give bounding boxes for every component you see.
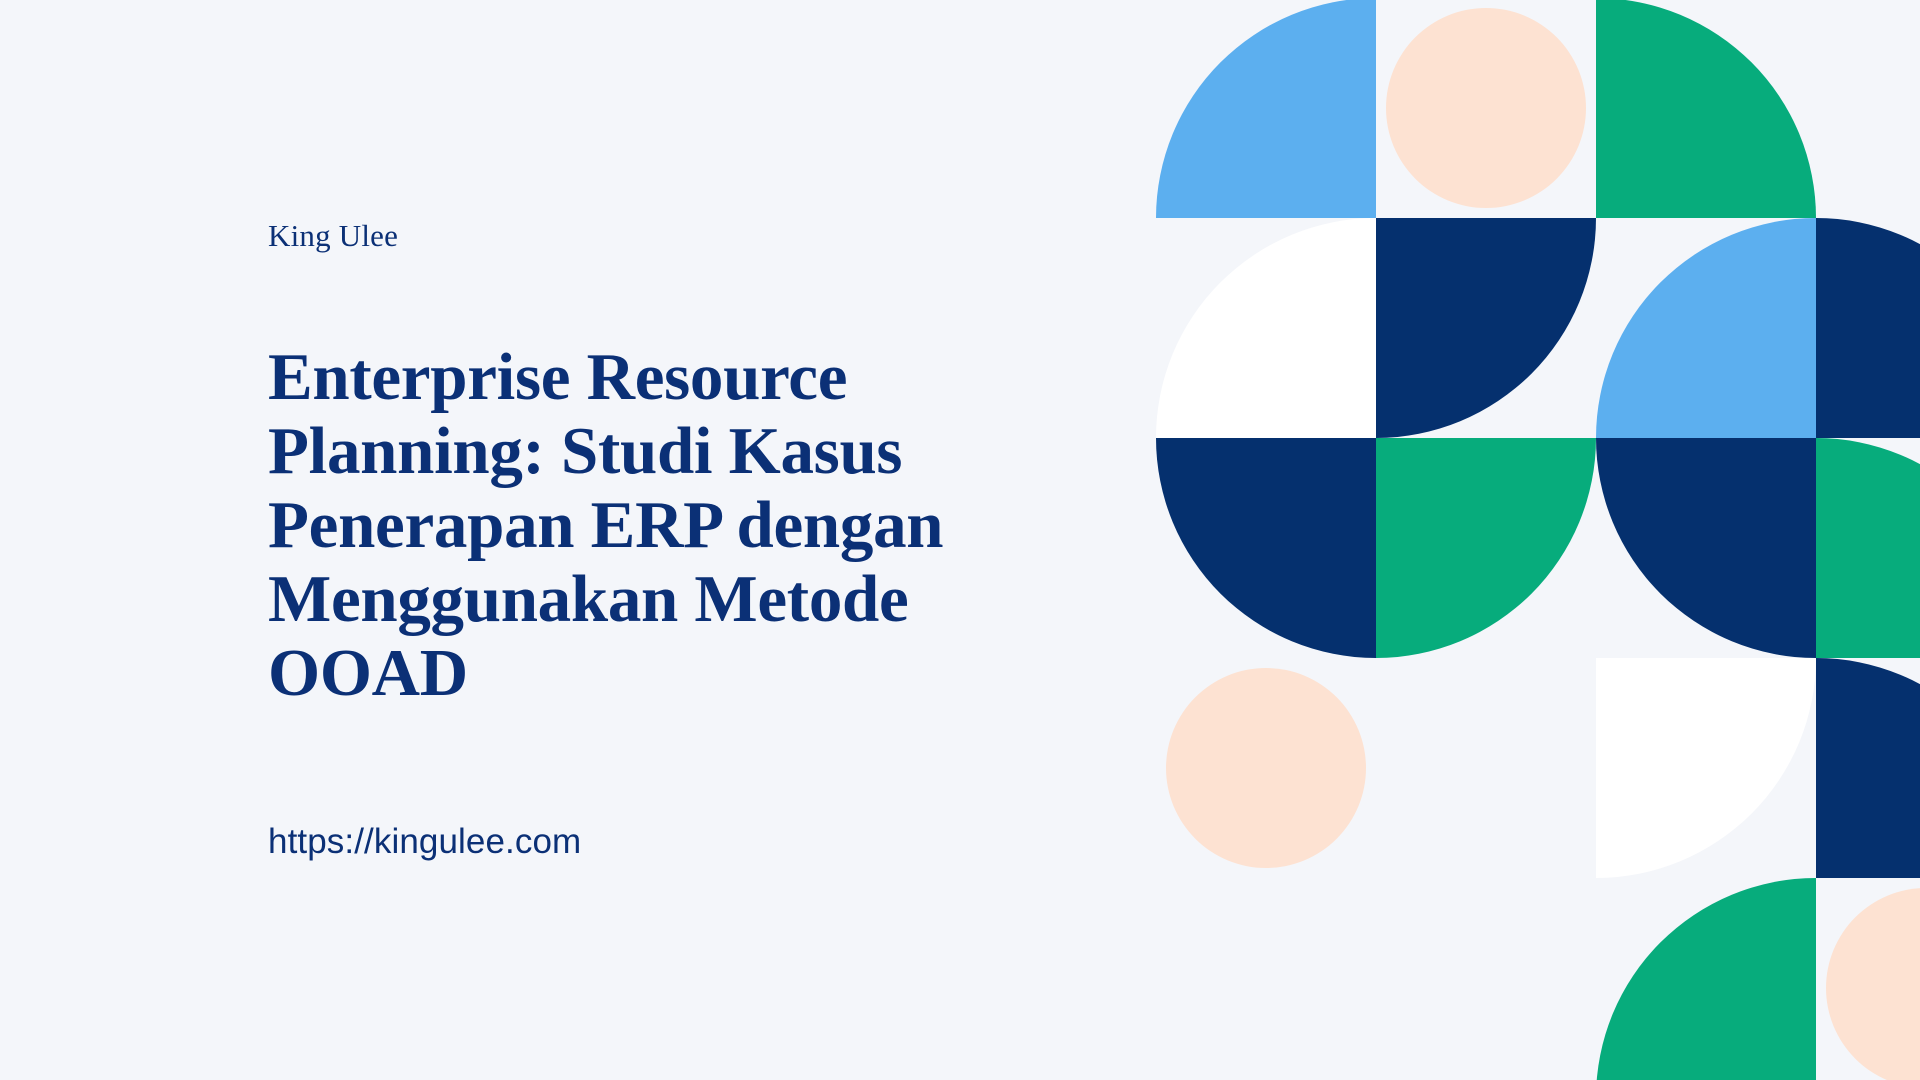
- pattern-cell-4-3: [1816, 878, 1920, 1080]
- pattern-quarter-circle: [1596, 658, 1816, 878]
- pattern-cell-2-1: [1376, 438, 1596, 658]
- pattern-cell-2-2: [1596, 438, 1816, 658]
- pattern-cell-3-0: [1156, 658, 1376, 878]
- pattern-quarter-circle: [1816, 438, 1920, 658]
- pattern-cell-1-0: [1156, 218, 1376, 438]
- pattern-quarter-circle: [1156, 218, 1376, 438]
- pattern-quarter-circle: [1816, 218, 1920, 438]
- pattern-cell-1-3: [1816, 218, 1920, 438]
- geometric-pattern: [1156, 0, 1920, 1080]
- author-byline: King Ulee: [268, 218, 1088, 254]
- pattern-quarter-circle: [1596, 0, 1816, 218]
- cover-canvas: King Ulee Enterprise Resource Planning: …: [0, 0, 1920, 1080]
- pattern-cell-2-3: [1816, 438, 1920, 658]
- pattern-quarter-circle: [1376, 438, 1596, 658]
- site-url: https://kingulee.com: [268, 822, 1088, 862]
- pattern-cell-0-1: [1376, 0, 1596, 218]
- pattern-cell-1-1: [1376, 218, 1596, 438]
- pattern-quarter-circle: [1816, 658, 1920, 878]
- pattern-cell-3-2: [1596, 658, 1816, 878]
- pattern-quarter-circle: [1376, 218, 1596, 438]
- pattern-cell-0-0: [1156, 0, 1376, 218]
- pattern-cell-0-2: [1596, 0, 1816, 218]
- pattern-cell-2-0: [1156, 438, 1376, 658]
- pattern-circle: [1386, 8, 1586, 208]
- pattern-quarter-circle: [1596, 878, 1816, 1080]
- pattern-quarter-circle: [1596, 438, 1816, 658]
- page-title: Enterprise Resource Planning: Studi Kasu…: [268, 340, 1068, 710]
- pattern-cell-3-3: [1816, 658, 1920, 878]
- pattern-quarter-circle: [1156, 438, 1376, 658]
- pattern-circle: [1166, 668, 1366, 868]
- text-column: King Ulee Enterprise Resource Planning: …: [268, 0, 1088, 1080]
- pattern-circle: [1826, 888, 1920, 1080]
- pattern-cell-1-2: [1596, 218, 1816, 438]
- pattern-cell-4-2: [1596, 878, 1816, 1080]
- pattern-quarter-circle: [1156, 0, 1376, 218]
- pattern-quarter-circle: [1596, 218, 1816, 438]
